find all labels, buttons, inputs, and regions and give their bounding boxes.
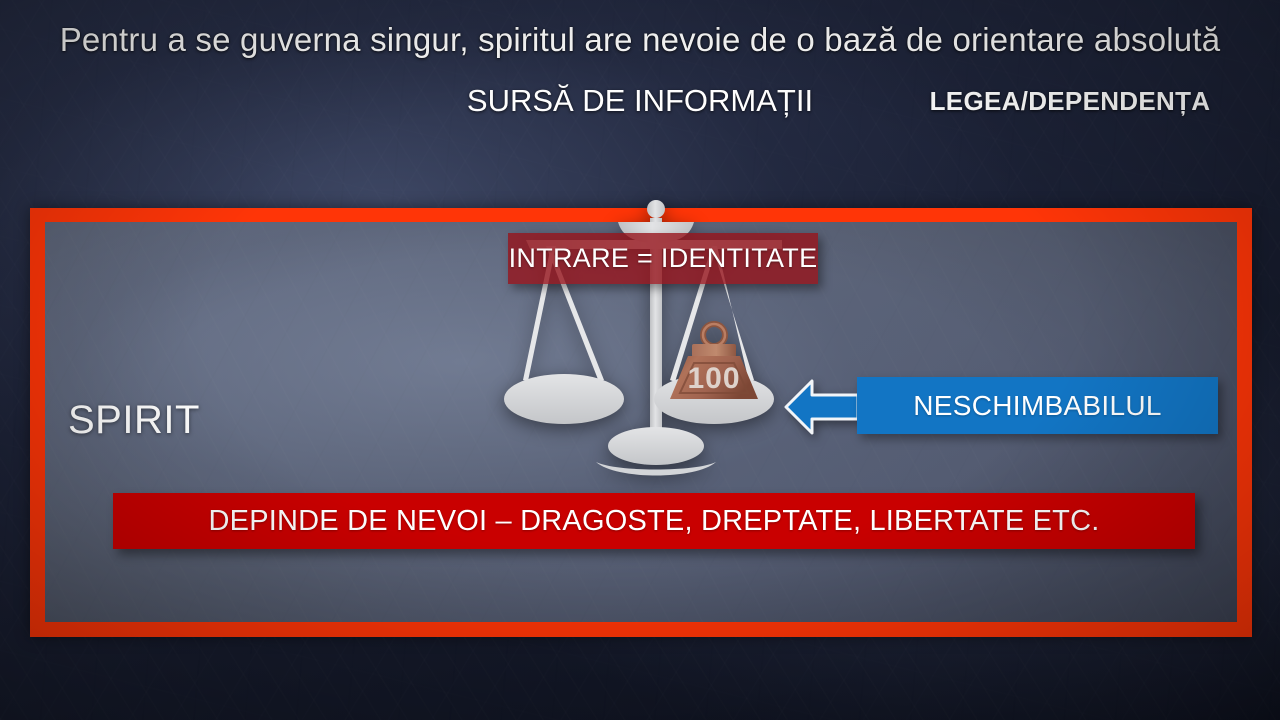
slide-canvas: Pentru a se guverna singur, spiritul are… (0, 0, 1280, 720)
banner-intrare-identitate: INTRARE = IDENTITATE (508, 233, 818, 284)
subtitle-law-dependency: LEGEA/DEPENDENȚA (900, 86, 1240, 117)
weight-value-text: 100 (687, 362, 740, 395)
banner-intrare-text: INTRARE = IDENTITATE (509, 243, 818, 274)
subtitle-row: SURSĂ DE INFORMAȚII LEGEA/DEPENDENȚA (0, 83, 1280, 123)
subtitle-information-source: SURSĂ DE INFORMAȚII (430, 83, 850, 119)
arrow-left-icon (782, 374, 862, 440)
callout-neschimbabilul-text: NESCHIMBABILUL (913, 390, 1162, 422)
page-title: Pentru a se guverna singur, spiritul are… (0, 21, 1280, 59)
spirit-label: SPIRIT (68, 398, 200, 443)
banner-depinde-de-nevoi: DEPINDE DE NEVOI – DRAGOSTE, DREPTATE, L… (113, 493, 1195, 549)
callout-neschimbabilul: NESCHIMBABILUL (857, 377, 1218, 434)
banner-depinde-text: DEPINDE DE NEVOI – DRAGOSTE, DREPTATE, L… (209, 505, 1100, 538)
